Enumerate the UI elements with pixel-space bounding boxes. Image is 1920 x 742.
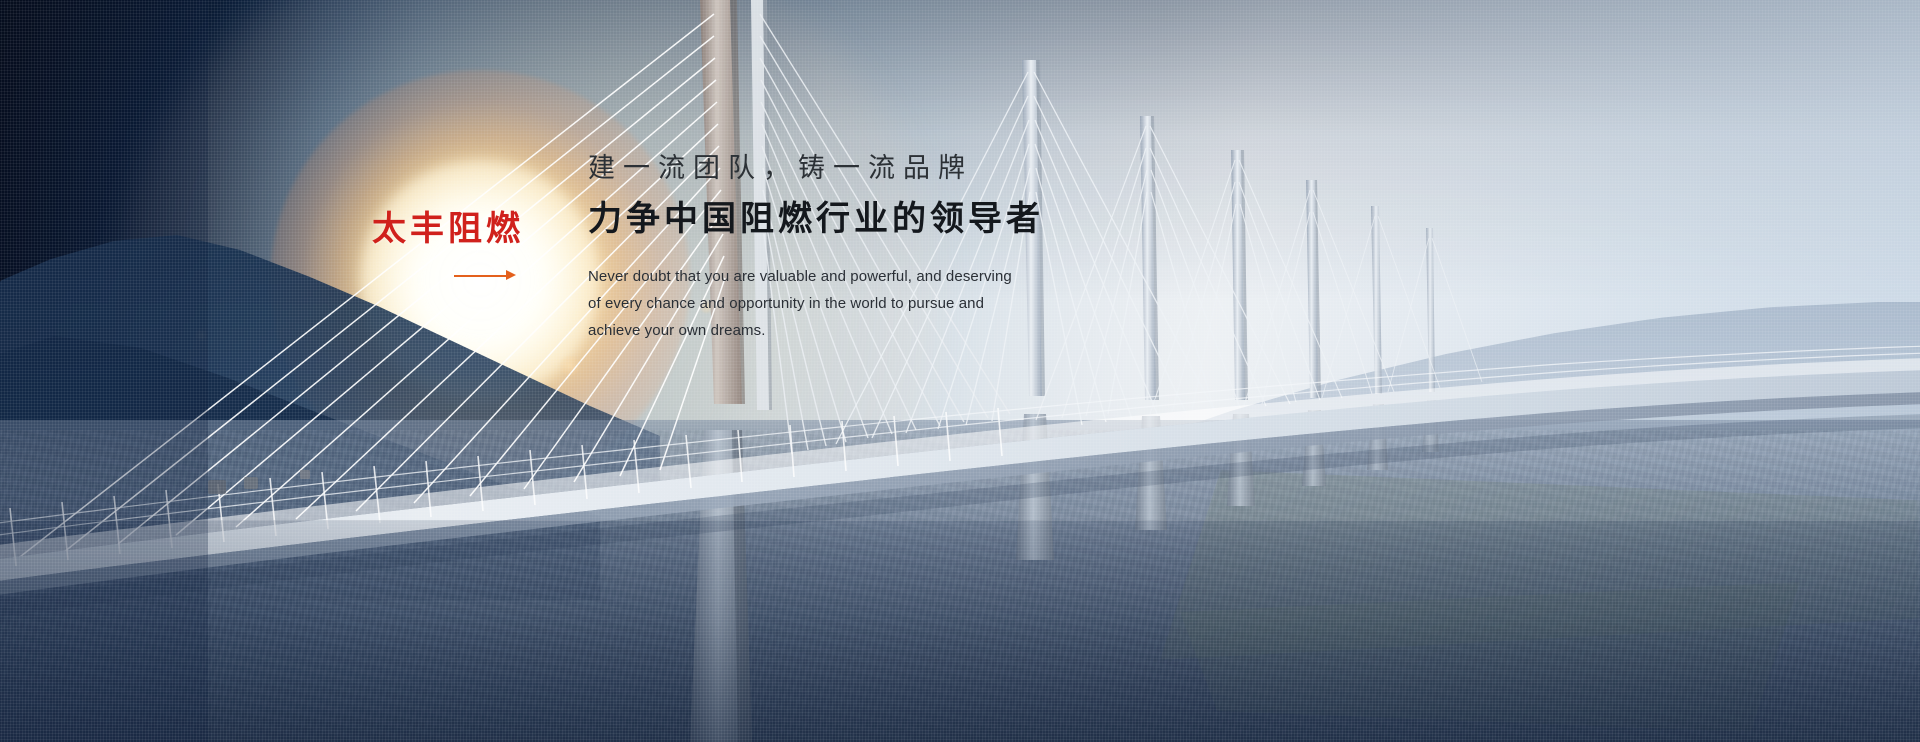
banner-subheadline: 建一流团队，铸一流品牌 [588, 152, 1148, 184]
paragraph-line: Never doubt that you are valuable and po… [588, 263, 1048, 290]
right-arrow-icon [454, 270, 516, 280]
banner-content: 太丰阻燃 建一流团队，铸一流品牌 力争中国阻燃行业的领导者 Never doub… [0, 0, 1920, 742]
paragraph-line: of every chance and opportunity in the w… [588, 290, 1048, 317]
paragraph-line: achieve your own dreams. [588, 317, 1048, 344]
banner-copy: 建一流团队，铸一流品牌 力争中国阻燃行业的领导者 Never doubt tha… [588, 152, 1148, 345]
banner-paragraph: Never doubt that you are valuable and po… [588, 263, 1048, 345]
hero-banner: 太丰阻燃 建一流团队，铸一流品牌 力争中国阻燃行业的领导者 Never doub… [0, 0, 1920, 742]
arrow-head [506, 270, 516, 280]
arrow-shaft [454, 275, 508, 277]
brand-logo-text: 太丰阻燃 [372, 212, 532, 246]
banner-headline: 力争中国阻燃行业的领导者 [588, 198, 1148, 241]
brand-logo[interactable]: 太丰阻燃 [372, 212, 532, 280]
